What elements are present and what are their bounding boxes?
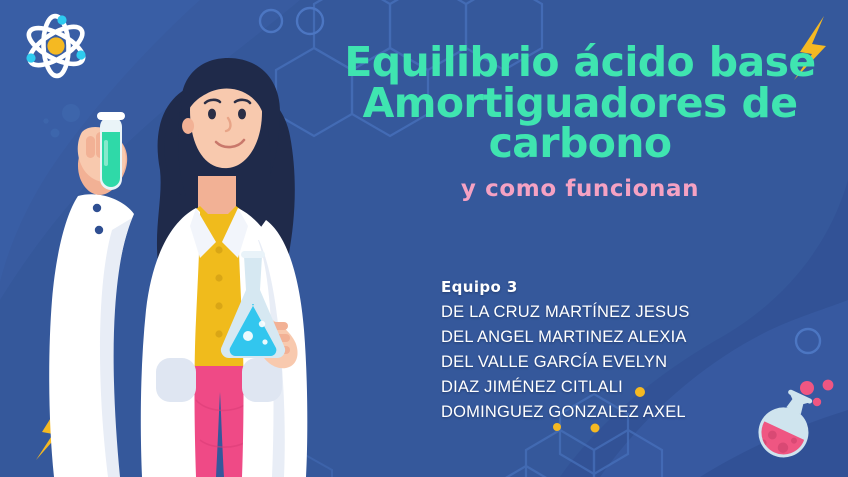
title-block: Equilibrio ácido base Amortiguadores de … [326, 42, 834, 202]
lab-coat-left-panel [141, 208, 200, 477]
title-slide: Equilibrio ácido base Amortiguadores de … [0, 0, 848, 477]
team-label: Equipo 3 [441, 278, 690, 296]
team-member-list: DE LA CRUZ MARTÍNEZ JESUSDEL ANGEL MARTI… [441, 300, 690, 425]
test-tube-icon [97, 112, 125, 190]
ear [182, 118, 194, 134]
team-member: DE LA CRUZ MARTÍNEZ JESUS [441, 300, 690, 325]
subtitle: y como funcionan [326, 176, 834, 202]
team-member: DEL ANGEL MARTINEZ ALEXIA [441, 325, 690, 350]
team-member: DIAZ JIMÉNEZ CITLALI [441, 375, 690, 400]
team-member: DOMINGUEZ GONZALEZ AXEL [441, 400, 690, 425]
team-block: Equipo 3 DE LA CRUZ MARTÍNEZ JESUSDEL AN… [441, 278, 690, 425]
page-title: Equilibrio ácido base Amortiguadores de … [326, 42, 834, 164]
title-line-3: carbono [489, 119, 672, 167]
team-member: DEL VALLE GARCÍA EVELYN [441, 350, 690, 375]
